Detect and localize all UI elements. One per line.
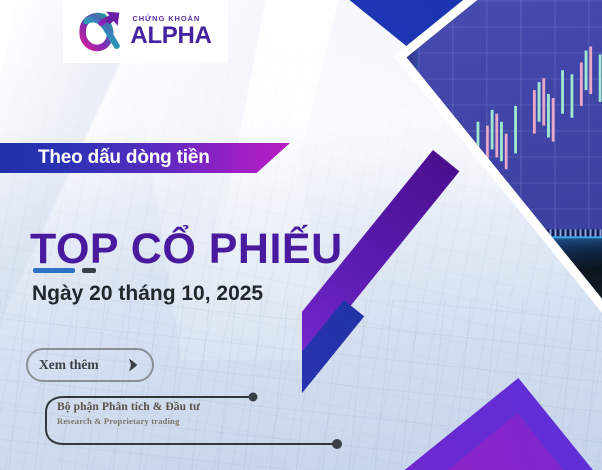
tagline-ribbon: Theo dấu dòng tiền [0, 143, 290, 173]
brand-name: ALPHA [130, 24, 211, 48]
title-divider [33, 268, 96, 273]
brand-logo[interactable]: CHỨNG KHOÁN ALPHA [63, 0, 228, 63]
divider-dash-primary [33, 268, 75, 273]
trading-monitor-photo-frame [394, 0, 602, 312]
read-more-button[interactable]: Xem thêm [26, 348, 154, 382]
read-more-label: Xem thêm [39, 357, 99, 373]
footer-text-group: Bộ phận Phân tích & Đầu tư Research & Pr… [57, 401, 200, 426]
alpha-ribbon-arrow-icon [79, 10, 123, 52]
chart-time-axis [427, 230, 602, 237]
chevron-right-icon [123, 356, 141, 374]
photo-backdrop [407, 0, 602, 300]
poster-canvas: CHỨNG KHOÁN ALPHA Theo dấu dòng tiền TOP… [0, 0, 602, 470]
brand-sub-label: CHỨNG KHOÁN [132, 15, 211, 23]
footer-department: Bộ phận Phân tích & Đầu tư [57, 401, 200, 413]
page-title: TOP CỔ PHIẾU [30, 227, 343, 272]
monitor-screen [419, 0, 602, 239]
candlestick-chart-icon [434, 0, 602, 213]
footer-credit: Bộ phận Phân tích & Đầu tư Research & Pr… [24, 396, 344, 448]
trading-monitor-photo [407, 0, 602, 300]
divider-dash-secondary [82, 268, 96, 273]
publish-date: Ngày 20 tháng 10, 2025 [32, 282, 263, 306]
footer-department-en: Research & Proprietary trading [57, 416, 200, 426]
brand-wordmark: CHỨNG KHOÁN ALPHA [130, 15, 211, 49]
tagline-text: Theo dấu dòng tiền [38, 147, 210, 169]
